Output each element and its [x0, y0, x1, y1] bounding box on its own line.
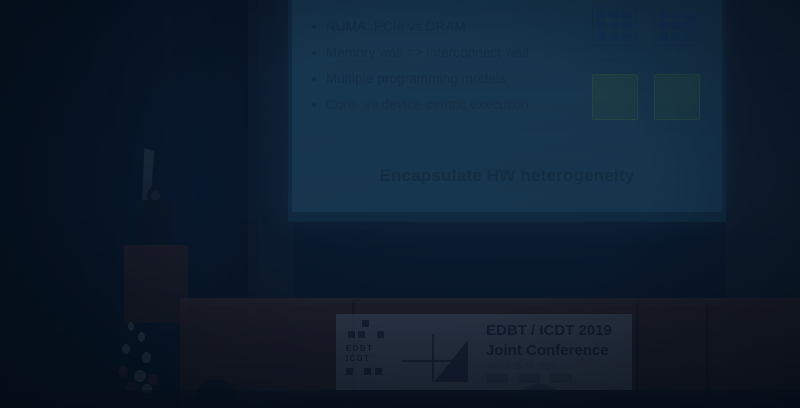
memory-block-icon — [654, 74, 700, 120]
mark-vertical-line — [432, 334, 434, 382]
cpu-block-icon — [592, 6, 636, 46]
interconnect-line — [675, 46, 676, 74]
presentation-slide: Heterogeneous Hardware NUMA: PCIe vs DRA… — [292, 0, 722, 212]
sponsor-logo — [486, 374, 508, 383]
bandwidth-label: ~12GB/s — [596, 58, 620, 64]
hardware-architecture-diagram: ~20GB/s ~12GB/s — [590, 6, 712, 128]
left-wall — [0, 0, 120, 408]
slide-punchline: Encapsulate HW heterogeneity — [292, 166, 722, 186]
banner-sail-mark — [402, 330, 476, 382]
bandwidth-label: ~20GB/s — [624, 47, 648, 53]
conference-banner: EDBT ICDT EDBT / ICDT 2019 Joint Confere… — [336, 314, 632, 390]
list-item: NUMA: PCIe vs DRAM — [306, 14, 606, 40]
cpu-block-icon — [654, 6, 698, 46]
banner-subtitle: Joint Conference — [486, 342, 609, 359]
wall-panel-right-of-screen — [726, 0, 800, 300]
interconnect-line — [613, 54, 676, 55]
slide-bullet-list: NUMA: PCIe vs DRAM Memory wall => interc… — [306, 14, 606, 118]
podium — [124, 245, 188, 323]
floral-arrangement — [108, 318, 174, 400]
logo-text-icdt: ICDT — [346, 354, 370, 363]
banner-title: EDBT / ICDT 2019 — [486, 322, 612, 339]
list-item: Memory wall => interconnect wall — [306, 40, 606, 66]
list-item: Multiple programming models — [306, 66, 606, 92]
sponsor-logo — [550, 374, 572, 383]
banner-date: March 26-29, 2019 — [488, 362, 555, 371]
conference-photo: Heterogeneous Hardware NUMA: PCIe vs DRA… — [0, 0, 800, 408]
edbt-icdt-logo: EDBT ICDT — [344, 320, 400, 382]
banner-sponsor-logos — [486, 374, 572, 383]
sponsor-logo — [518, 374, 540, 383]
foreground-rail — [0, 390, 800, 408]
list-item: Core- vs device-centric execution — [306, 92, 606, 118]
logo-text-edbt: EDBT — [346, 344, 373, 353]
memory-block-icon — [592, 74, 638, 120]
